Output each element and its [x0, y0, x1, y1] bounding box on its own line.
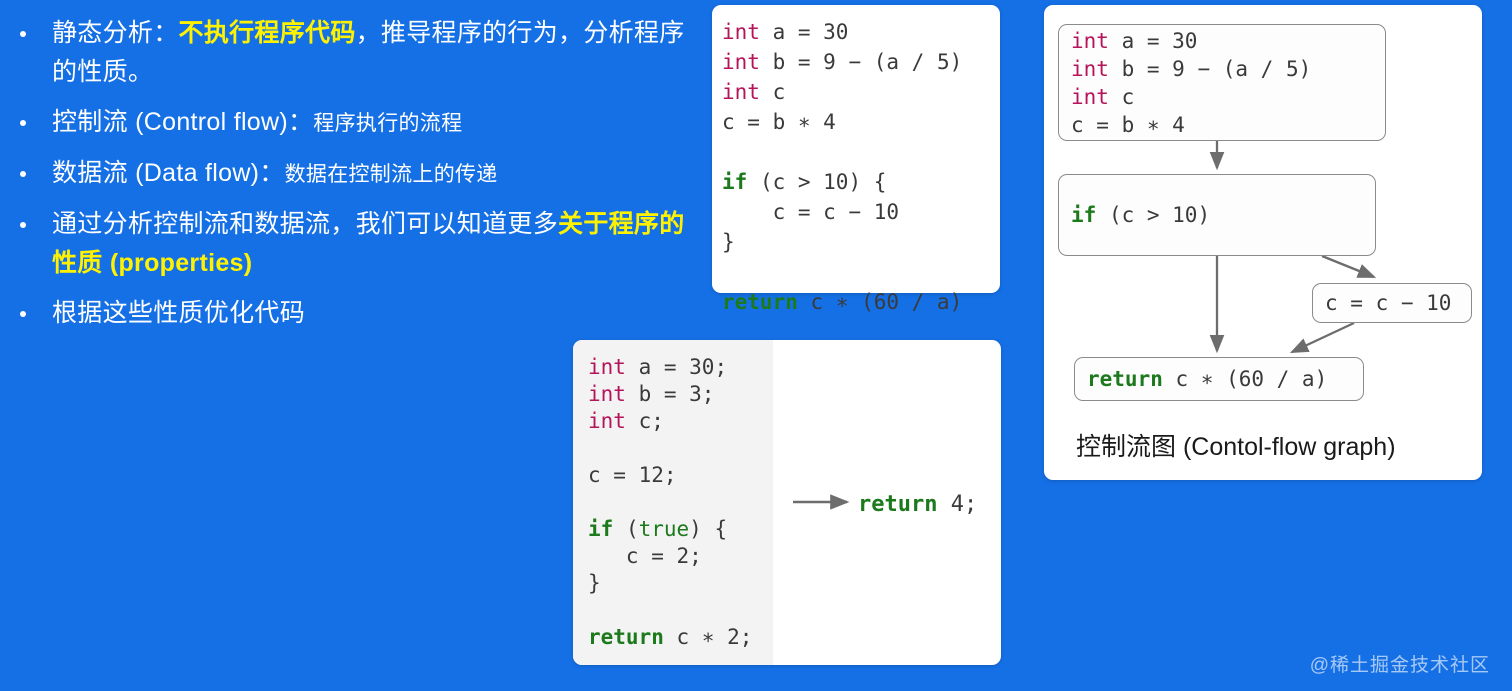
code-token: (c > 10) {: [747, 170, 886, 194]
code-token: c = b ∗ 4: [1071, 113, 1185, 137]
code-token: c = 2;: [588, 544, 702, 568]
code-token: a = 30: [760, 20, 849, 44]
bullet-lead: 通过分析控制流和数据流，我们可以知道更多: [52, 210, 558, 238]
code-line: int a = 30: [1071, 27, 1311, 55]
code-line: if (true) {: [588, 516, 752, 543]
code-line: return c ∗ (60 / a): [1087, 365, 1327, 393]
code-token-kw-type: int: [588, 355, 626, 379]
code-token-kw-type: int: [1071, 85, 1109, 109]
code-token-kw-type: int: [1071, 57, 1109, 81]
code-line: }: [722, 227, 1000, 257]
code-token-kw-ctl: return: [722, 290, 798, 314]
code-token: c ∗ (60 / a): [1163, 367, 1327, 391]
code-token-kw-ctl: return: [1087, 367, 1163, 391]
code-line: int c: [722, 77, 1000, 107]
code-token: c = 12;: [588, 463, 677, 487]
code-token: b = 9 − (a / 5): [760, 50, 962, 74]
control-flow-graph-card: int a = 30int b = 9 − (a / 5)int cc = b …: [1044, 5, 1482, 480]
code-line: [722, 257, 1000, 287]
code-line: [722, 137, 1000, 167]
bullet-item: 根据这些性质优化代码: [0, 294, 700, 333]
code-line: int a = 30;: [588, 354, 752, 381]
code-line: int c;: [588, 408, 752, 435]
code-line: int b = 9 − (a / 5): [722, 47, 1000, 77]
code-token-kw-type: int: [588, 382, 626, 406]
bullet-item: 控制流 (Control flow)：程序执行的流程: [0, 103, 700, 143]
bullet-item: 数据流 (Data flow)：数据在控制流上的传递: [0, 154, 700, 194]
bullet-item: 静态分析：不执行程序代码，推导程序的行为，分析程序的性质。: [0, 14, 700, 92]
code-token-kw-type: int: [722, 80, 760, 104]
code-card-snippet1: int a = 30int b = 9 − (a / 5)int cc = b …: [712, 5, 1000, 293]
code-token-kw-ctl: if: [722, 170, 747, 194]
code-line: int b = 3;: [588, 381, 752, 408]
code-line: return c ∗ (60 / a): [722, 287, 1000, 317]
code-text-snippet2: int a = 30;int b = 3;int c; c = 12; if (…: [588, 354, 752, 651]
code-line: int b = 9 − (a / 5): [1071, 55, 1311, 83]
cfg-node-return-code: return c ∗ (60 / a): [1075, 365, 1327, 393]
code-token: a = 30;: [626, 355, 727, 379]
code-line: int c: [1071, 83, 1311, 111]
code-block-snippet1: int a = 30int b = 9 − (a / 5)int cc = b …: [722, 17, 1000, 317]
code-token-kw-ctl: return: [858, 492, 937, 517]
bullet-lead: 根据这些性质优化代码: [52, 299, 305, 327]
bullet-dot-icon: [20, 171, 26, 177]
slide-root: 静态分析：不执行程序代码，推导程序的行为，分析程序的性质。控制流 (Contro…: [0, 0, 1512, 691]
code-token: b = 3;: [626, 382, 715, 406]
cfg-node-if-code: if (c > 10): [1059, 201, 1210, 229]
code-token: (c > 10): [1096, 203, 1210, 227]
bullet-highlight: 不执行程序代码: [179, 19, 356, 47]
code-token: a = 30: [1109, 29, 1198, 53]
bullet-dot-icon: [20, 120, 26, 126]
watermark: @稀土掘金技术社区: [1310, 650, 1490, 677]
cfg-node-entry-code: int a = 30int b = 9 − (a / 5)int cc = b …: [1059, 27, 1311, 139]
code-line: [588, 489, 752, 516]
bullet-dot-icon: [20, 31, 26, 37]
code-token: c = b ∗ 4: [722, 110, 836, 134]
code-token: c ∗ (60 / a): [798, 290, 962, 314]
code-token-kw-type: int: [1071, 29, 1109, 53]
cfg-node-decrement-code: c = c − 10: [1313, 289, 1451, 317]
code-token: c = c − 10: [722, 200, 899, 224]
code-line: return 4;: [858, 489, 977, 521]
bullet-lead: 控制流 (Control flow)：: [52, 108, 313, 136]
code-token: 4;: [937, 492, 977, 517]
folded-result: return 4;: [858, 489, 977, 521]
code-line: [588, 435, 752, 462]
code-token: b = 9 − (a / 5): [1109, 57, 1311, 81]
cfg-node-entry: int a = 30int b = 9 − (a / 5)int cc = b …: [1058, 24, 1386, 141]
code-line: c = 2;: [588, 543, 752, 570]
code-line: [588, 597, 752, 624]
code-token-kw-type: int: [588, 409, 626, 433]
code-token: c;: [626, 409, 664, 433]
code-token: }: [588, 571, 601, 595]
bullet-rest: 数据在控制流上的传递: [285, 163, 498, 186]
code-token: }: [722, 230, 735, 254]
code-line: }: [588, 570, 752, 597]
bullet-lead: 数据流 (Data flow)：: [52, 159, 285, 187]
code-token: c: [1109, 85, 1134, 109]
code-token-kw-type: int: [722, 50, 760, 74]
code-token-kw-ctl: if: [588, 517, 613, 541]
bullet-rest: 程序执行的流程: [313, 112, 462, 135]
code-token-lit: true: [639, 517, 690, 541]
code-token: c: [760, 80, 785, 104]
code-line: c = c − 10: [1325, 289, 1451, 317]
code-line: if (c > 10) {: [722, 167, 1000, 197]
code-token: c ∗ 2;: [664, 625, 753, 649]
bullet-dot-icon: [20, 222, 26, 228]
code-line: c = 12;: [588, 462, 752, 489]
code-line: c = b ∗ 4: [722, 107, 1000, 137]
code-token-kw-ctl: if: [1071, 203, 1096, 227]
bullet-dot-icon: [20, 311, 26, 317]
cfg-node-return: return c ∗ (60 / a): [1074, 357, 1364, 401]
bullet-item: 通过分析控制流和数据流，我们可以知道更多关于程序的性质 (properties): [0, 205, 700, 283]
code-token-kw-type: int: [722, 20, 760, 44]
cfg-node-decrement: c = c − 10: [1312, 283, 1472, 323]
bullet-lead: 静态分析：: [52, 19, 179, 47]
code-line: if (c > 10): [1071, 201, 1210, 229]
code-line: int a = 30: [722, 17, 1000, 47]
right-arrow-icon: [791, 487, 861, 517]
cfg-node-if: if (c > 10): [1058, 174, 1376, 256]
code-token-kw-ctl: return: [588, 625, 664, 649]
code-token: ) {: [689, 517, 727, 541]
code-block-snippet2: int a = 30;int b = 3;int c; c = 12; if (…: [588, 354, 752, 651]
code-line: return c ∗ 2;: [588, 624, 752, 651]
code-token: c = c − 10: [1325, 291, 1451, 315]
code-line: c = c − 10: [722, 197, 1000, 227]
code-token: (: [613, 517, 638, 541]
code-line: c = b ∗ 4: [1071, 111, 1311, 139]
code-text-result: return 4;: [858, 489, 977, 521]
cfg-caption: 控制流图 (Contol-flow graph): [1076, 427, 1396, 463]
